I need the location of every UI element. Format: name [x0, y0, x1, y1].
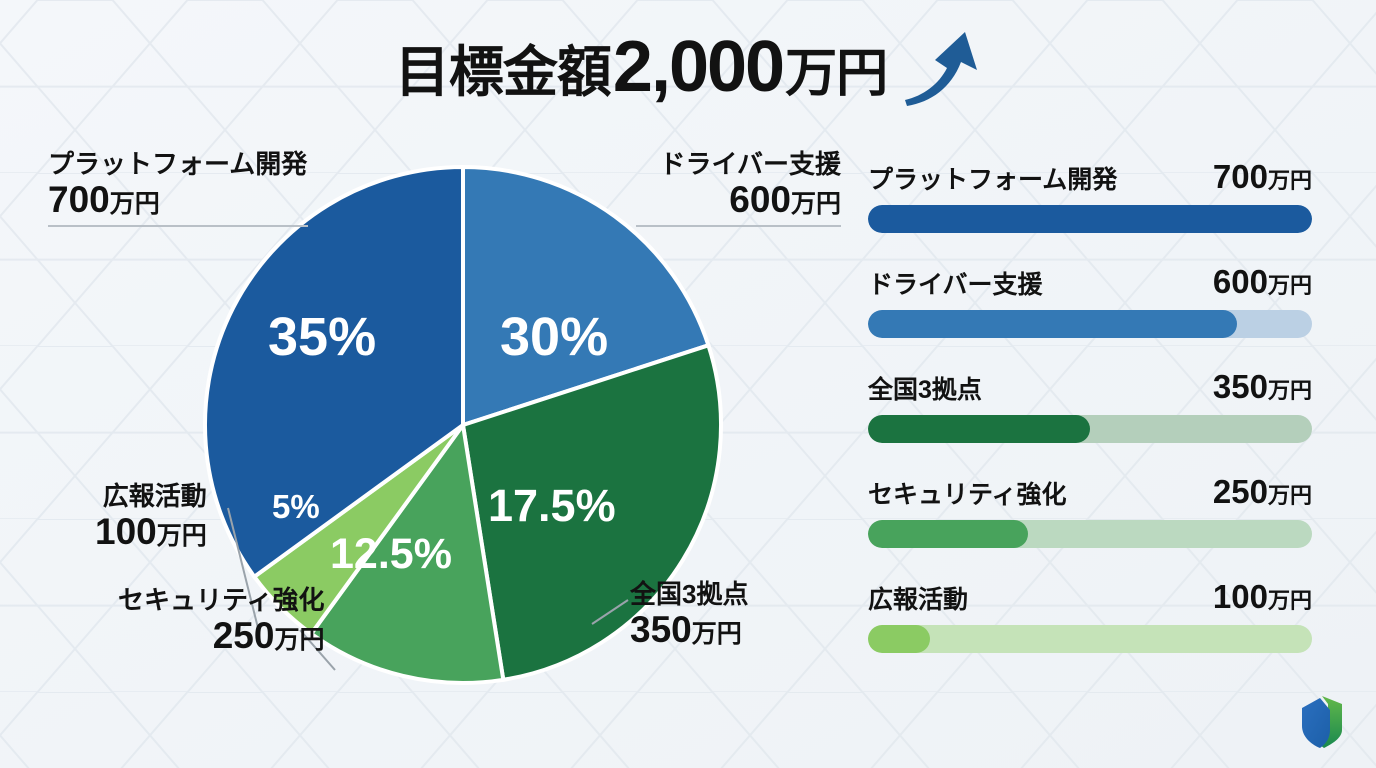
callout-kouhou-name: 広報活動: [95, 482, 207, 512]
callout-platform: プラットフォーム開発 700万円: [48, 150, 308, 227]
bar-name-security: セキュリティ強化: [868, 475, 1067, 511]
callout-driver-unit: 万円: [791, 190, 841, 218]
bar-amount-driver: 600: [1213, 263, 1268, 300]
bar-row-security: セキュリティ強化 250万円: [868, 473, 1312, 548]
callout-kouhou: 広報活動 100万円: [95, 482, 207, 553]
callout-kyoten-value: 350: [630, 609, 692, 650]
callout-kouhou-value: 100: [95, 511, 157, 552]
pie-percent-platform: 35%: [268, 306, 376, 368]
bar-fill-platform: [868, 205, 1312, 233]
shield-arrow-logo-icon: [1284, 682, 1358, 756]
bar-track-kyoten: [868, 415, 1312, 443]
bar-unit-driver: 万円: [1268, 273, 1312, 298]
bar-amount-kouhou: 100: [1213, 578, 1268, 615]
callout-kyoten-name: 全国3拠点: [630, 580, 748, 610]
callout-platform-value: 700: [48, 179, 110, 220]
bar-name-platform: プラットフォーム開発: [868, 160, 1117, 196]
bar-fill-security: [868, 520, 1028, 548]
bar-track-kouhou: [868, 625, 1312, 653]
bar-row-kyoten: 全国3拠点 350万円: [868, 368, 1312, 443]
bar-row-driver: ドライバー支援 600万円: [868, 263, 1312, 338]
pie-percent-kyoten: 17.5%: [488, 480, 616, 532]
title-lead-text: 目標金額: [395, 45, 611, 100]
callout-security-unit: 万円: [274, 626, 324, 654]
pie-percent-security: 12.5%: [330, 530, 452, 579]
bar-name-driver: ドライバー支援: [868, 265, 1043, 301]
callout-security: セキュリティ強化 250万円: [118, 586, 324, 657]
bar-track-driver: [868, 310, 1312, 338]
pie-chart-section: 35% 30% 17.5% 12.5% 5% プラットフォーム開発 700万円 …: [0, 130, 860, 730]
bar-fill-driver: [868, 310, 1237, 338]
callout-platform-underline: [48, 225, 308, 227]
bar-row-platform: プラットフォーム開発 700万円: [868, 158, 1312, 233]
callout-security-name: セキュリティ強化: [118, 586, 324, 616]
callout-driver-value: 600: [729, 179, 791, 220]
callout-platform-name: プラットフォーム開発: [48, 150, 308, 180]
bar-name-kyoten: 全国3拠点: [868, 370, 982, 406]
page-title: 目標金額2,000万円: [0, 26, 1376, 108]
bar-fill-kouhou: [868, 625, 930, 653]
callout-kyoten: 全国3拠点 350万円: [630, 580, 748, 651]
bar-unit-security: 万円: [1268, 483, 1312, 508]
bar-track-platform: [868, 205, 1312, 233]
callout-driver-name: ドライバー支援: [636, 150, 841, 180]
pie-percent-driver: 30%: [500, 306, 608, 368]
bar-amount-kyoten: 350: [1213, 368, 1268, 405]
bar-row-kouhou: 広報活動 100万円: [868, 578, 1312, 653]
pie-percent-kouhou: 5%: [272, 488, 320, 526]
bar-amount-security: 250: [1213, 473, 1268, 510]
bar-amount-platform: 700: [1213, 158, 1268, 195]
bar-unit-platform: 万円: [1268, 168, 1312, 193]
title-amount-text: 2,000: [611, 31, 785, 103]
bar-unit-kouhou: 万円: [1268, 588, 1312, 613]
bar-track-security: [868, 520, 1312, 548]
bar-unit-kyoten: 万円: [1268, 378, 1312, 403]
bar-name-kouhou: 広報活動: [868, 580, 968, 616]
callout-platform-unit: 万円: [110, 190, 160, 218]
trending-up-arrow-icon: [903, 26, 981, 108]
callout-kyoten-unit: 万円: [692, 620, 742, 648]
callout-driver: ドライバー支援 600万円: [636, 150, 841, 227]
callout-kouhou-unit: 万円: [157, 522, 207, 550]
callout-security-value: 250: [213, 615, 275, 656]
budget-bar-list: プラットフォーム開発 700万円 ドライバー支援 600万円 全国3拠点 350…: [868, 158, 1312, 683]
bar-fill-kyoten: [868, 415, 1090, 443]
title-unit-text: 万円: [785, 48, 887, 100]
callout-driver-underline: [636, 225, 841, 227]
